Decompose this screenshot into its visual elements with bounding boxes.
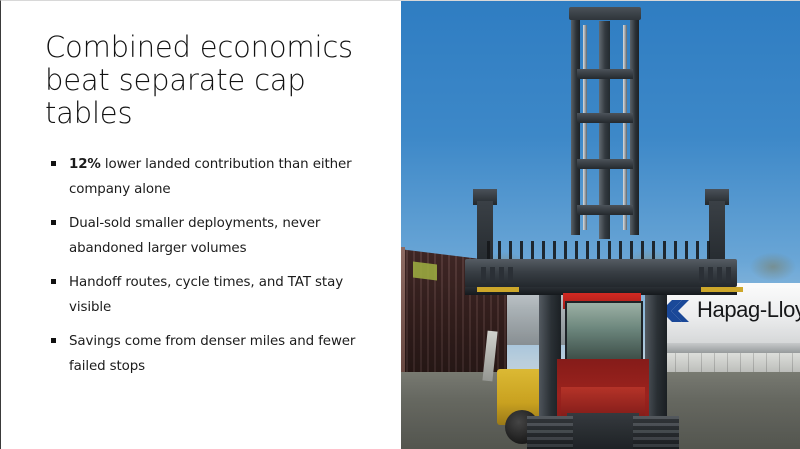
container-placard (413, 262, 437, 281)
page-title: Combined economics beat separate cap tab… (45, 31, 357, 130)
mast-crossbar (577, 69, 633, 79)
mast-crossbar (577, 113, 633, 123)
list-item-text: Handoff routes, cycle times, and TAT sta… (69, 275, 343, 315)
wheel-assembly-right (633, 416, 679, 449)
mast-rail-right (623, 25, 627, 230)
hapag-lloyd-wordmark: Hapag-Lloy (697, 297, 800, 323)
bullet-square-icon (51, 220, 56, 225)
mast-rail-left (583, 25, 587, 230)
bullet-square-icon (51, 161, 56, 166)
list-item: Handoff routes, cycle times, and TAT sta… (45, 270, 357, 320)
bullet-square-icon (51, 279, 56, 284)
list-item: 12% lower landed contribution than eithe… (45, 152, 357, 202)
operator-cab-window (565, 301, 643, 363)
reach-stacker-mast (569, 7, 641, 235)
list-item-text: lower landed contribution than either co… (69, 157, 352, 197)
machine-lower-housing (567, 413, 639, 449)
mast-top-cap (569, 7, 641, 20)
reach-stacker-carriage (519, 295, 687, 449)
presentation-slide: Combined economics beat separate cap tab… (0, 0, 800, 449)
mast-column-right (630, 20, 639, 235)
mast-crossbar (577, 205, 633, 215)
list-item: Dual-sold smaller deployments, never aba… (45, 211, 357, 261)
spreader-marker-right (701, 287, 743, 292)
list-item-lead: 12% (69, 157, 101, 172)
spreader-hydraulic-hoses (487, 241, 715, 261)
text-panel: Combined economics beat separate cap tab… (1, 1, 401, 449)
list-item-text: Dual-sold smaller deployments, never aba… (69, 216, 320, 256)
list-item: Savings come from denser miles and fewer… (45, 329, 357, 379)
slide-photo: Hapag-Lloy (401, 1, 800, 449)
spreader-marker-left (477, 287, 519, 292)
spreader-claw-left (481, 267, 515, 283)
list-item-text: Savings come from denser miles and fewer… (69, 334, 355, 374)
bullet-square-icon (51, 338, 56, 343)
mast-column-left (571, 20, 580, 235)
spreader-claw-right (699, 267, 733, 283)
mast-crossbar (577, 159, 633, 169)
bullet-list: 12% lower landed contribution than eithe… (45, 152, 357, 379)
wheel-assembly-left (527, 416, 573, 449)
